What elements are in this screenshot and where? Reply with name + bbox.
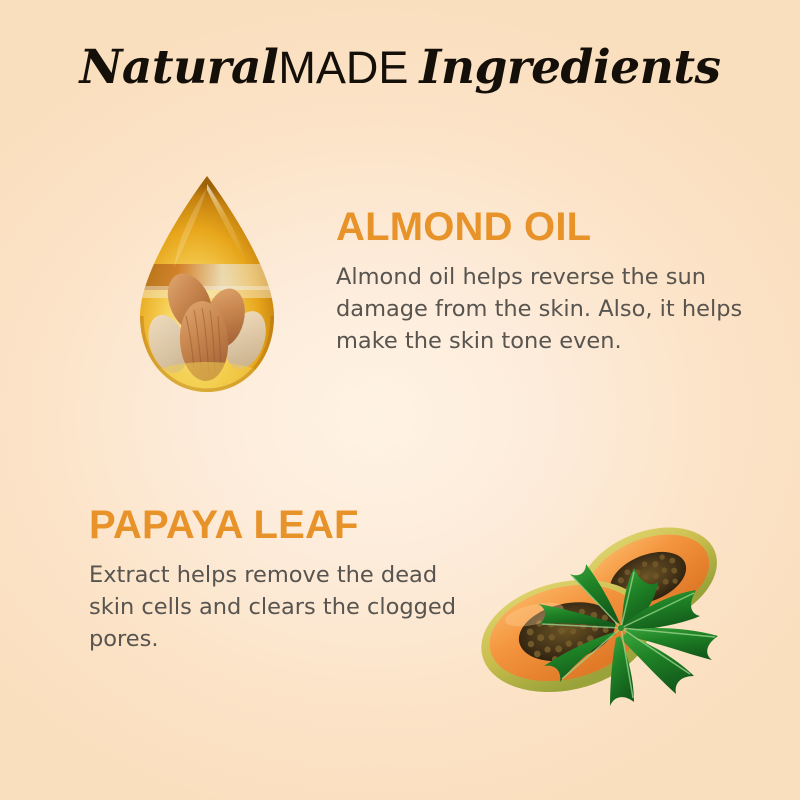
papaya-leaf-image (470, 508, 782, 720)
section-body-papaya-leaf: Extract helps remove the dead skin cells… (89, 560, 489, 656)
almond-oil-droplet-image (112, 168, 302, 403)
title-part-natural: Natural (79, 40, 278, 95)
section-almond-oil: ALMOND OIL Almond oil helps reverse the … (336, 206, 756, 358)
title-part-ingredients: Ingredients (419, 40, 720, 95)
section-body-almond-oil: Almond oil helps reverse the sun damage … (336, 262, 756, 358)
section-heading-almond-oil: ALMOND OIL (336, 206, 756, 248)
section-heading-papaya-leaf: PAPAYA LEAF (89, 504, 489, 546)
page-title: NaturalMADEIngredients (0, 44, 800, 91)
section-papaya-leaf: PAPAYA LEAF Extract helps remove the dea… (89, 504, 489, 656)
title-part-made: MADE (278, 42, 408, 93)
infographic-canvas: NaturalMADEIngredients (0, 0, 800, 800)
